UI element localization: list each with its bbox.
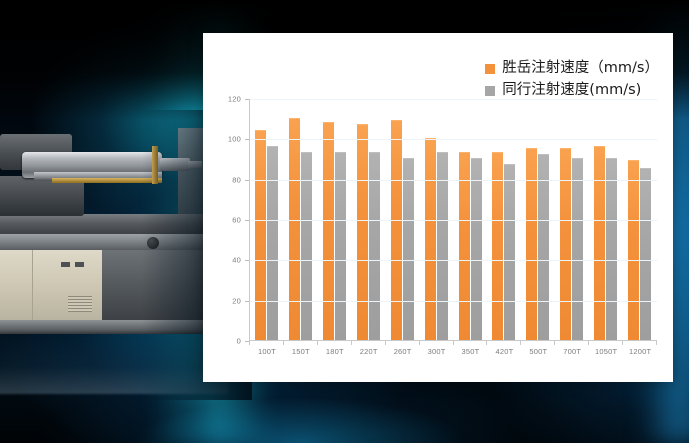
x-tick [520, 341, 521, 345]
gridline [250, 139, 657, 140]
bar-orange[interactable] [526, 148, 537, 340]
x-tick [351, 341, 352, 345]
x-tick-label: 420T [487, 347, 521, 356]
bar-gray[interactable] [403, 158, 414, 340]
y-tick-label: 40 [232, 256, 241, 265]
machine-cabinet-divider [32, 250, 33, 322]
gridline [250, 180, 657, 181]
y-tick [245, 180, 249, 181]
x-tick [656, 341, 657, 345]
legend-label-shengyue: 胜岳注射速度（mm/s） [502, 61, 659, 77]
y-tick-label: 100 [228, 135, 241, 144]
bar-orange[interactable] [357, 124, 368, 340]
x-tick [588, 341, 589, 345]
y-tick-label: 20 [232, 296, 241, 305]
y-tick-label: 60 [232, 216, 241, 225]
injection-molding-machine-photo [0, 120, 228, 360]
bar-orange[interactable] [255, 130, 266, 340]
x-tick [453, 341, 454, 345]
x-tick-label: 500T [521, 347, 555, 356]
bar-gray[interactable] [640, 168, 651, 340]
x-axis-labels: 100T150T180T220T260T300T350T420T500T700T… [250, 347, 657, 356]
y-tick-label: 80 [232, 175, 241, 184]
bar-gray[interactable] [606, 158, 617, 340]
bar-orange[interactable] [323, 122, 334, 340]
x-tick-label: 1200T [623, 347, 657, 356]
y-tick [245, 99, 249, 100]
bar-gray[interactable] [538, 154, 549, 340]
x-tick [317, 341, 318, 345]
machine-vent-grille [68, 296, 92, 312]
gridline [250, 99, 657, 100]
gridline [250, 260, 657, 261]
x-tick [622, 341, 623, 345]
x-tick [385, 341, 386, 345]
y-axis-labels: 020406080100120 [219, 99, 245, 341]
y-tick [245, 260, 249, 261]
x-tick-label: 1050T [589, 347, 623, 356]
y-tick-label: 0 [237, 337, 241, 346]
legend-label-peer: 同行注射速度(mm/s) [502, 83, 641, 99]
x-tick-label: 150T [284, 347, 318, 356]
x-tick-label: 350T [454, 347, 488, 356]
x-tick-label: 260T [386, 347, 420, 356]
chart-panel: 胜岳注射速度（mm/s） 同行注射速度(mm/s) 02040608010012… [203, 33, 673, 382]
machine-switch-b [75, 262, 84, 267]
bar-orange[interactable] [560, 148, 571, 340]
y-tick [245, 220, 249, 221]
legend-swatch-orange [485, 64, 495, 74]
legend-item-peer: 同行注射速度(mm/s) [485, 83, 659, 99]
axes [249, 99, 657, 341]
bar-orange[interactable] [628, 160, 639, 340]
gridline [250, 220, 657, 221]
y-tick [245, 301, 249, 302]
machine-switch-a [61, 262, 70, 267]
bar-orange[interactable] [289, 118, 300, 340]
x-tick-label: 220T [352, 347, 386, 356]
legend-item-shengyue: 胜岳注射速度（mm/s） [485, 61, 659, 77]
bar-gray[interactable] [471, 158, 482, 340]
x-tick [486, 341, 487, 345]
slide-stage: 胜岳注射速度（mm/s） 同行注射速度(mm/s) 02040608010012… [0, 0, 689, 443]
x-tick [283, 341, 284, 345]
x-tick-label: 100T [250, 347, 284, 356]
bar-gray[interactable] [504, 164, 515, 340]
x-tick-label: 300T [420, 347, 454, 356]
x-tick-label: 180T [318, 347, 352, 356]
gridline [250, 301, 657, 302]
plot-area: 020406080100120 100T150T180T220T260T300T… [219, 99, 661, 377]
bar-orange[interactable] [391, 120, 402, 340]
x-tick [419, 341, 420, 345]
x-tick-label: 700T [555, 347, 589, 356]
y-tick [245, 139, 249, 140]
bar-orange[interactable] [594, 146, 605, 340]
bar-gray[interactable] [572, 158, 583, 340]
x-tick [249, 341, 250, 345]
legend-swatch-gray [485, 86, 495, 96]
bar-orange[interactable] [425, 138, 436, 340]
x-tick [554, 341, 555, 345]
y-tick-label: 120 [228, 95, 241, 104]
bar-gray[interactable] [267, 146, 278, 340]
